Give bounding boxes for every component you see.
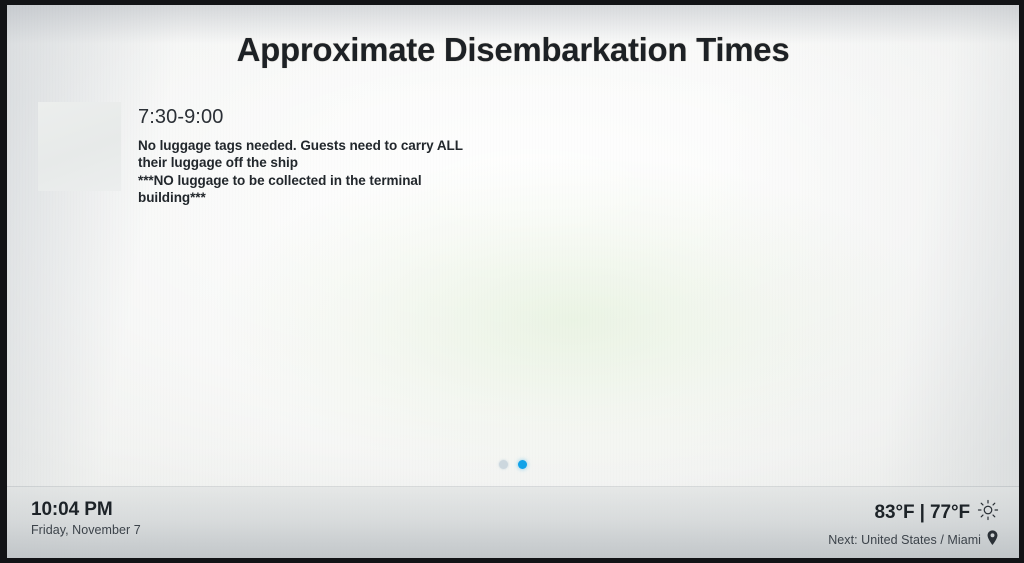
pagination-dots[interactable] (7, 460, 1019, 469)
entry-text-block: 7:30-9:00 No luggage tags needed. Guests… (138, 102, 488, 206)
pagination-dot-1[interactable] (499, 460, 508, 469)
page-title: Approximate Disembarkation Times (7, 31, 1019, 69)
device-screen-frame: Approximate Disembarkation Times 7:30-9:… (0, 0, 1024, 563)
location-pin-icon (986, 530, 999, 550)
sun-icon (977, 499, 999, 526)
entry-image-placeholder (38, 102, 121, 191)
clock-block: 10:04 PM Friday, November 7 (31, 499, 141, 537)
display-panel: Approximate Disembarkation Times 7:30-9:… (7, 5, 1019, 558)
next-port-line: Next: United States / Miami (828, 530, 999, 550)
pagination-dot-2[interactable] (518, 460, 527, 469)
disembarkation-entry: 7:30-9:00 No luggage tags needed. Guests… (38, 102, 488, 206)
current-date: Friday, November 7 (31, 523, 141, 537)
entry-time-range: 7:30-9:00 (138, 106, 488, 128)
weather-block: 83°F | 77°F (828, 499, 999, 550)
status-bar: 10:04 PM Friday, November 7 83°F | 77°F (7, 487, 1019, 558)
weather-line: 83°F | 77°F (828, 499, 999, 526)
entry-description: No luggage tags needed. Guests need to c… (138, 137, 488, 206)
next-port-label: Next: United States / Miami (828, 533, 981, 547)
current-time: 10:04 PM (31, 499, 141, 520)
weather-temperatures: 83°F | 77°F (875, 502, 970, 523)
screen-content: Approximate Disembarkation Times 7:30-9:… (7, 5, 1019, 558)
